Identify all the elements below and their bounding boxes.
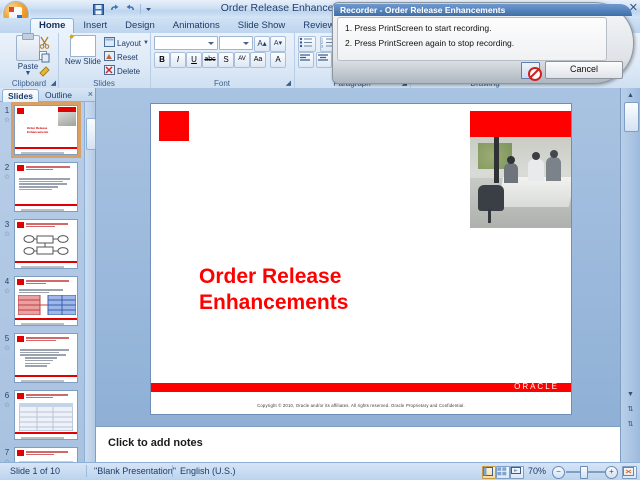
thumb-accent-square xyxy=(17,279,24,285)
thumbnail-preview[interactable] xyxy=(14,162,78,212)
thumb-title-text: Order ReleaseEnhancements xyxy=(27,126,48,134)
slide-accent-square xyxy=(159,111,189,141)
align-center-icon[interactable] xyxy=(316,52,332,68)
tab-slides[interactable]: Slides xyxy=(2,89,39,102)
text-shadow-button[interactable]: S xyxy=(218,52,234,68)
thumb-bottom-band xyxy=(15,318,77,320)
thumbnail-list[interactable]: 1 ☆ Order ReleaseEnhancements 2 ☆ xyxy=(0,102,85,463)
scroll-thumb[interactable] xyxy=(624,102,639,132)
notes-placeholder[interactable]: Click to add notes xyxy=(108,437,203,449)
slide-show-icon[interactable] xyxy=(510,466,524,479)
font-color-button[interactable]: A xyxy=(270,52,286,68)
animation-star-icon: ☆ xyxy=(2,230,12,238)
recorder-step-1: 1. Press PrintScreen to start recording. xyxy=(345,23,606,33)
animation-star-icon: ☆ xyxy=(2,287,12,295)
slide-top-red-band xyxy=(470,111,571,137)
slide-sorter-icon[interactable] xyxy=(496,466,510,479)
thumb-footer-line xyxy=(21,437,64,438)
increase-font-size-icon[interactable]: A▴ xyxy=(254,36,270,52)
stop-recording-icon[interactable] xyxy=(521,62,540,79)
animation-star-icon: ☆ xyxy=(2,401,12,409)
thumbnail-number: 1 xyxy=(2,106,12,115)
thumbnail-number: 2 xyxy=(2,163,12,172)
character-spacing-button[interactable]: AV xyxy=(234,52,250,68)
thumb-heading-lines xyxy=(26,279,75,285)
layout-button[interactable]: Layout ▼ xyxy=(104,37,149,49)
new-slide-icon: ✦ xyxy=(70,35,96,57)
ribbon-group-slides: ✦ New Slide Layout ▼ Reset xyxy=(58,33,151,88)
layout-label: Layout xyxy=(117,39,141,48)
thumbnail-item[interactable]: 3 ☆ xyxy=(0,216,85,273)
animation-star-icon: ☆ xyxy=(2,173,12,181)
thumbnail-number: 5 xyxy=(2,334,12,343)
font-name-input[interactable] xyxy=(154,36,218,50)
photo-office-chair xyxy=(478,185,504,211)
thumb-footer-line xyxy=(21,209,64,210)
photo-column xyxy=(494,137,499,183)
thumb-footer-line xyxy=(21,152,64,153)
slide-title-line-2: Enhancements xyxy=(199,290,459,316)
thumb-footer-line xyxy=(21,380,64,381)
thumbnail-item[interactable]: 5 ☆ xyxy=(0,330,85,387)
font-dialog-launcher-icon[interactable]: ◢ xyxy=(286,79,291,87)
thumbnail-preview[interactable] xyxy=(14,447,78,463)
zoom-slider-handle[interactable] xyxy=(580,466,588,479)
group-label-clipboard: Clipboard xyxy=(0,79,58,88)
photo-person-center xyxy=(528,159,544,181)
thumb-accent-square xyxy=(17,165,24,171)
thumbnail-item[interactable]: 7 ☆ xyxy=(0,444,85,463)
no-record-badge-icon xyxy=(528,67,542,81)
previous-slide-icon[interactable]: ⇅ xyxy=(624,403,637,416)
thumb-bottom-band xyxy=(15,375,77,377)
thumb-heading-lines xyxy=(26,222,75,228)
thumbnail-preview[interactable] xyxy=(14,276,78,326)
font-size-input[interactable] xyxy=(219,36,253,50)
thumb-accent-square xyxy=(17,222,24,228)
recorder-step-2: 2. Press PrintScreen again to stop recor… xyxy=(345,38,606,48)
ribbon-tabs: Home Insert Design Animations Slide Show… xyxy=(30,18,382,33)
photo-person-seated xyxy=(504,163,518,183)
tab-home[interactable]: Home xyxy=(30,18,74,33)
thumbnail-item[interactable]: 1 ☆ Order ReleaseEnhancements xyxy=(0,102,85,159)
thumb-heading-lines xyxy=(26,336,75,342)
thumbnail-number: 4 xyxy=(2,277,12,286)
group-label-font: Font xyxy=(150,79,294,88)
decrease-font-size-icon[interactable]: A▾ xyxy=(270,36,286,52)
thumb-heading-lines xyxy=(26,450,75,456)
thumb-subtext xyxy=(19,288,74,294)
reset-label: Reset xyxy=(117,53,138,62)
thumb-photo xyxy=(58,112,76,126)
thumb-footer-line xyxy=(21,323,64,324)
slide-title-line-1: Order Release xyxy=(199,264,459,290)
tab-design[interactable]: Design xyxy=(116,18,164,33)
animation-star-icon: ☆ xyxy=(2,116,12,124)
slides-panel-scrollbar[interactable] xyxy=(84,102,95,463)
strikethrough-button[interactable]: abc xyxy=(202,52,218,68)
slide-photo[interactable] xyxy=(470,137,571,228)
status-separator xyxy=(172,465,173,477)
recorder-dialog[interactable]: Recorder - Order Release Enhancements 1.… xyxy=(332,2,634,84)
thumb-footer-line xyxy=(21,266,64,267)
thumb-heading-lines xyxy=(26,393,75,399)
thumbnail-number: 7 xyxy=(2,448,12,457)
bold-button[interactable]: B xyxy=(154,52,170,68)
thumb-bottom-band xyxy=(15,261,77,263)
layout-icon xyxy=(104,37,115,49)
thumb-bottom-band xyxy=(15,147,77,149)
thumb-accent-square xyxy=(17,393,24,399)
powerpoint-window: Order Release Enhancements.ppt [Compa – … xyxy=(0,0,640,480)
reset-button[interactable]: Reset xyxy=(104,51,138,63)
normal-view-icon[interactable] xyxy=(482,466,496,479)
underline-button[interactable]: U xyxy=(186,52,202,68)
current-slide[interactable]: Order Release Enhancements ORACLE Copyri… xyxy=(151,104,571,414)
zoom-out-button[interactable]: − xyxy=(552,466,565,479)
slide-editing-area[interactable]: Order Release Enhancements ORACLE Copyri… xyxy=(96,88,621,426)
theme-status[interactable]: "Blank Presentation" xyxy=(94,466,176,476)
thumb-bottom-band xyxy=(15,204,77,206)
thumbnail-number: 3 xyxy=(2,220,12,229)
slides-panel: Slides Outline × 1 ☆ Order ReleaseEnhanc… xyxy=(0,88,96,463)
thumbnail-item[interactable]: 4 ☆ xyxy=(0,273,85,330)
thumbnail-item[interactable]: 2 ☆ xyxy=(0,159,85,216)
cancel-button[interactable]: Cancel xyxy=(545,61,623,79)
new-slide-button[interactable]: ✦ New Slide xyxy=(64,35,102,66)
thumb-accent-square xyxy=(17,108,24,114)
bullets-icon[interactable] xyxy=(298,36,316,52)
thumb-heading-lines xyxy=(26,165,75,171)
copy-icon[interactable] xyxy=(38,50,51,63)
recorder-dialog-title: Recorder - Order Release Enhancements xyxy=(334,4,632,16)
reset-icon xyxy=(104,51,115,63)
delete-label: Delete xyxy=(117,67,140,76)
tab-slide-show[interactable]: Slide Show xyxy=(229,18,295,33)
slides-panel-scroll-thumb[interactable] xyxy=(86,118,96,150)
align-left-icon[interactable] xyxy=(298,52,314,68)
notes-pane[interactable]: Click to add notes xyxy=(96,426,621,464)
thumb-accent-square xyxy=(17,450,24,456)
new-slide-label: New Slide xyxy=(64,57,102,66)
tab-insert[interactable]: Insert xyxy=(74,18,116,33)
thumb-body-lines xyxy=(20,348,74,368)
scroll-up-icon[interactable]: ▲ xyxy=(624,89,637,102)
next-slide-icon[interactable]: ⇅ xyxy=(624,418,637,431)
delete-icon xyxy=(104,65,115,77)
slide-scrollbar[interactable]: ▲ ▼ ⇅ ⇅ xyxy=(620,88,640,463)
close-panel-icon[interactable]: × xyxy=(88,89,93,99)
thumbnail-preview[interactable] xyxy=(14,333,78,383)
thumb-body-lines xyxy=(19,177,74,192)
animation-star-icon: ☆ xyxy=(2,344,12,352)
recorder-instructions: 1. Press PrintScreen to start recording.… xyxy=(337,17,607,61)
status-bar: Slide 1 of 10 "Blank Presentation" Engli… xyxy=(0,462,640,480)
thumb-accent-square xyxy=(17,336,24,342)
fit-slide-to-window-icon[interactable] xyxy=(622,466,637,479)
thumbnail-preview[interactable] xyxy=(14,390,78,440)
change-case-button[interactable]: Aa xyxy=(250,52,266,68)
thumbnail-item[interactable]: 6 ☆ xyxy=(0,387,85,444)
ribbon-group-clipboard: Paste ▼ Clipboard ◢ xyxy=(0,33,59,88)
clipboard-dialog-launcher-icon[interactable]: ◢ xyxy=(51,79,56,87)
slides-panel-tabs: Slides Outline × xyxy=(0,88,95,102)
thumbnail-number: 6 xyxy=(2,391,12,400)
photo-person-right xyxy=(546,157,561,181)
thumb-bottom-band xyxy=(15,432,77,434)
slide-bottom-red-band xyxy=(151,383,571,392)
paste-icon xyxy=(16,35,40,61)
thumbnail-preview[interactable] xyxy=(14,219,78,269)
format-painter-icon[interactable] xyxy=(38,64,51,77)
layout-dropdown-arrow-icon[interactable]: ▼ xyxy=(143,40,149,46)
italic-button[interactable]: I xyxy=(170,52,186,68)
language-status[interactable]: English (U.S.) xyxy=(180,466,236,476)
group-label-slides: Slides xyxy=(58,79,150,88)
slide-copyright: Copyright © 2010, Oracle and/or its affi… xyxy=(151,403,571,408)
scroll-down-icon[interactable]: ▼ xyxy=(624,388,637,401)
oracle-logo: ORACLE xyxy=(514,382,559,391)
delete-slide-button[interactable]: Delete xyxy=(104,65,140,77)
tab-animations[interactable]: Animations xyxy=(164,18,229,33)
tab-outline[interactable]: Outline xyxy=(40,89,77,101)
slide-number-status[interactable]: Slide 1 of 10 xyxy=(10,466,60,476)
ribbon-group-font: A▴ A▾ B I U abc S AV Aa A Font ◢ xyxy=(150,33,295,88)
svg-text:3: 3 xyxy=(321,45,323,49)
thumbnail-preview[interactable]: Order ReleaseEnhancements xyxy=(14,105,78,155)
status-separator xyxy=(86,465,87,477)
zoom-in-button[interactable]: + xyxy=(605,466,618,479)
slide-title[interactable]: Order Release Enhancements xyxy=(199,264,459,316)
cut-icon[interactable] xyxy=(38,36,51,49)
zoom-level[interactable]: 70% xyxy=(528,466,546,476)
